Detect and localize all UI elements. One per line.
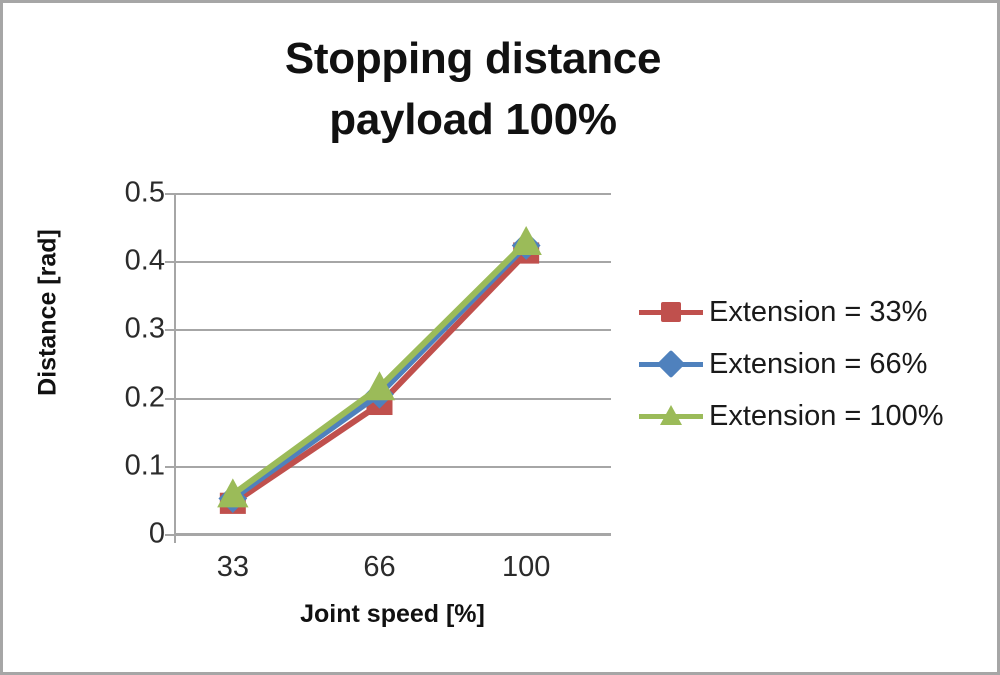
y-axis-tick [165, 329, 174, 331]
chart-figure: Stopping distance payload 100% 00.10.20.… [0, 0, 1000, 675]
chart-title-line-2: payload 100% [3, 90, 943, 151]
x-axis-tick-label: 66 [320, 551, 440, 584]
legend-marker-triangle-icon [660, 405, 682, 425]
y-axis-tick-labels: 00.10.20.30.40.5 [95, 193, 165, 534]
y-axis-title: Distance [rad] [34, 213, 63, 413]
y-axis-tick [165, 261, 174, 263]
y-axis-tick-label: 0.2 [95, 381, 165, 414]
y-axis-tick [165, 534, 174, 536]
legend-key-triangle-icon [639, 403, 703, 429]
legend-key-diamond-icon [639, 351, 703, 377]
y-axis-tick [165, 193, 174, 195]
y-axis-tick-label: 0.5 [95, 177, 165, 210]
legend-marker-diamond-icon [657, 350, 685, 378]
y-axis-tick-label: 0.4 [95, 245, 165, 278]
x-axis-tick-label: 33 [173, 551, 293, 584]
legend-marker-square-icon [661, 302, 681, 322]
gridline [174, 329, 611, 331]
x-axis-title: Joint speed [%] [174, 600, 611, 629]
y-axis-tick-label: 0 [95, 518, 165, 551]
y-axis-tick-label: 0.3 [95, 313, 165, 346]
legend-label: Extension = 66% [709, 348, 927, 381]
legend-label: Extension = 33% [709, 296, 927, 329]
legend-item[interactable]: Extension = 33% [639, 286, 989, 338]
chart-title: Stopping distance payload 100% [3, 29, 943, 150]
gridline [174, 466, 611, 468]
y-axis-tick [165, 466, 174, 468]
gridline [174, 261, 611, 263]
x-axis-tick [174, 534, 176, 543]
gridline [174, 398, 611, 400]
y-axis-tick-label: 0.1 [95, 449, 165, 482]
legend: Extension = 33%Extension = 66%Extension … [639, 286, 989, 442]
y-axis-line [174, 193, 176, 536]
legend-item[interactable]: Extension = 100% [639, 390, 989, 442]
y-axis-tick [165, 398, 174, 400]
x-axis-tick-label: 100 [466, 551, 586, 584]
x-axis-line [174, 533, 611, 535]
legend-item[interactable]: Extension = 66% [639, 338, 989, 390]
plot-area [174, 193, 611, 534]
chart-title-line-1: Stopping distance [3, 29, 943, 90]
legend-key-square-icon [639, 299, 703, 325]
gridline [174, 193, 611, 195]
legend-label: Extension = 100% [709, 400, 944, 433]
